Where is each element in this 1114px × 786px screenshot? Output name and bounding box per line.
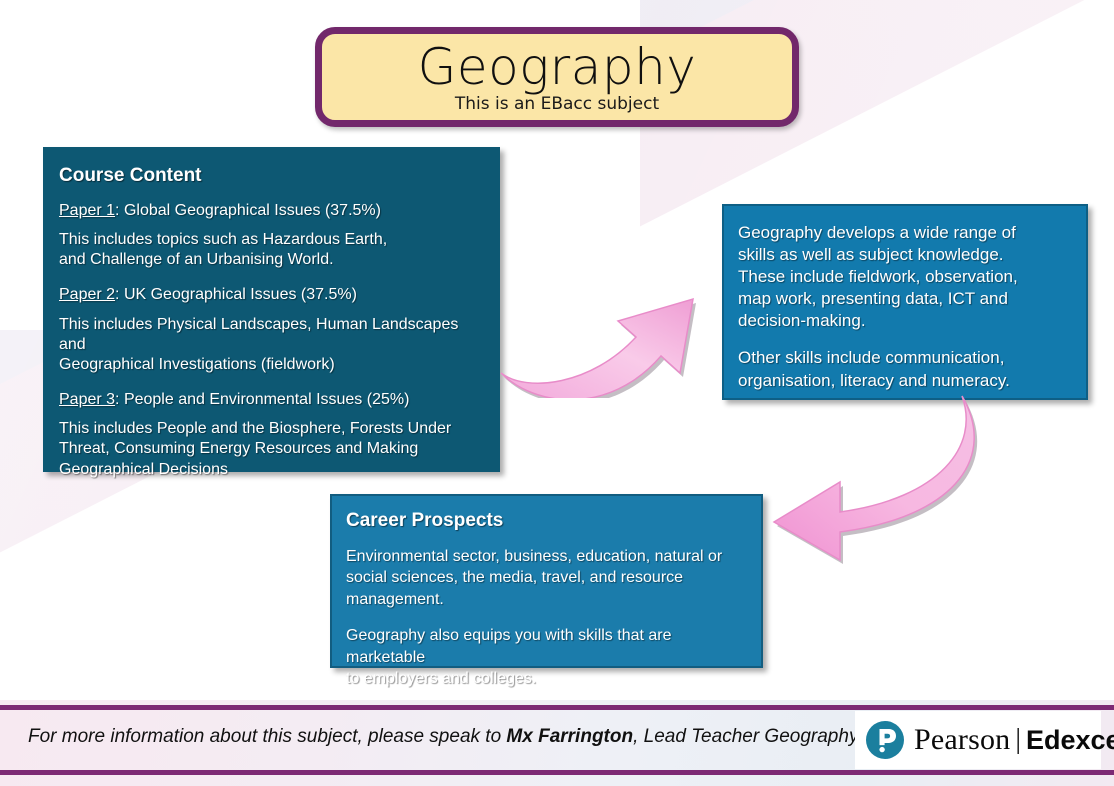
skills-line-1: Geography develops a wide range of — [738, 222, 1072, 244]
skills-line-2: skills as well as subject knowledge. — [738, 244, 1072, 266]
footer-text-before: For more information about this subject,… — [28, 726, 506, 747]
paper-3-detail-line-2: Threat, Consuming Energy Resources and M… — [59, 439, 484, 459]
paper-1-detail-line-2: and Challenge of an Urbanising World. — [59, 250, 484, 270]
paper-1-detail-line-1: This includes topics such as Hazardous E… — [59, 230, 484, 250]
career-marketable-line-1: Geography also equips you with skills th… — [346, 625, 747, 668]
career-marketable-line-2: to employers and colleges. — [346, 668, 747, 689]
career-line-2: social sciences, the media, travel, and … — [346, 567, 747, 588]
career-line-3: management. — [346, 589, 747, 610]
pearson-wordmark: Pearson — [914, 723, 1010, 757]
paper-1-label: Paper 1 — [59, 202, 115, 219]
paper-3-title: : People and Environmental Issues (25%) — [115, 391, 409, 408]
title-banner: Geography This is an EBacc subject — [315, 27, 799, 127]
title-subtitle: This is an EBacc subject — [322, 94, 792, 114]
pearson-edexcel-logo: Pearson | Edexcel — [855, 711, 1101, 769]
pearson-logo-divider: | — [1015, 724, 1021, 756]
paper-1-title: : Global Geographical Issues (37.5%) — [115, 202, 381, 219]
skills-line-5: decision-making. — [738, 310, 1072, 332]
paper-3-label: Paper 3 — [59, 391, 115, 408]
paper-1-title-line: Paper 1: Global Geographical Issues (37.… — [59, 201, 484, 221]
skills-other-line-2: organisation, literacy and numeracy. — [738, 370, 1072, 392]
skills-panel: Geography develops a wide range of skill… — [722, 204, 1088, 400]
paper-2-title-line: Paper 2: UK Geographical Issues (37.5%) — [59, 285, 484, 305]
page-title: Geography — [322, 42, 792, 92]
slide-canvas: Geography This is an EBacc subject Cours… — [0, 0, 1114, 786]
course-content-panel: Course Content Paper 1: Global Geographi… — [43, 147, 500, 472]
paper-3-detail-line-3: Geographical Decisions — [59, 460, 484, 480]
paper-2-title: : UK Geographical Issues (37.5%) — [115, 286, 357, 303]
paper-2-label: Paper 2 — [59, 286, 115, 303]
paper-3-detail-line-1: This includes People and the Biosphere, … — [59, 419, 484, 439]
pearson-p-icon — [865, 720, 905, 760]
career-line-1: Environmental sector, business, educatio… — [346, 546, 747, 567]
footer-contact-text: For more information about this subject,… — [28, 726, 858, 748]
skills-line-3: These include fieldwork, observation, — [738, 266, 1072, 288]
paper-3-title-line: Paper 3: People and Environmental Issues… — [59, 390, 484, 410]
skills-line-4: map work, presenting data, ICT and — [738, 288, 1072, 310]
paper-2-detail-line-1: This includes Physical Landscapes, Human… — [59, 315, 484, 355]
footer-text-after: , Lead Teacher Geography — [633, 726, 858, 747]
paper-2-detail-line-2: Geographical Investigations (fieldwork) — [59, 355, 484, 375]
footer-bar: For more information about this subject,… — [0, 700, 1114, 786]
edexcel-wordmark: Edexcel — [1026, 725, 1114, 756]
skills-other-line-1: Other skills include communication, — [738, 347, 1072, 369]
course-content-heading: Course Content — [59, 165, 484, 187]
career-prospects-panel: Career Prospects Environmental sector, b… — [330, 494, 763, 668]
footer-rule-bottom — [0, 770, 1114, 775]
career-prospects-heading: Career Prospects — [346, 510, 747, 532]
footer-teacher-name: Mx Farrington — [506, 726, 633, 747]
footer-rule-top — [0, 705, 1114, 710]
